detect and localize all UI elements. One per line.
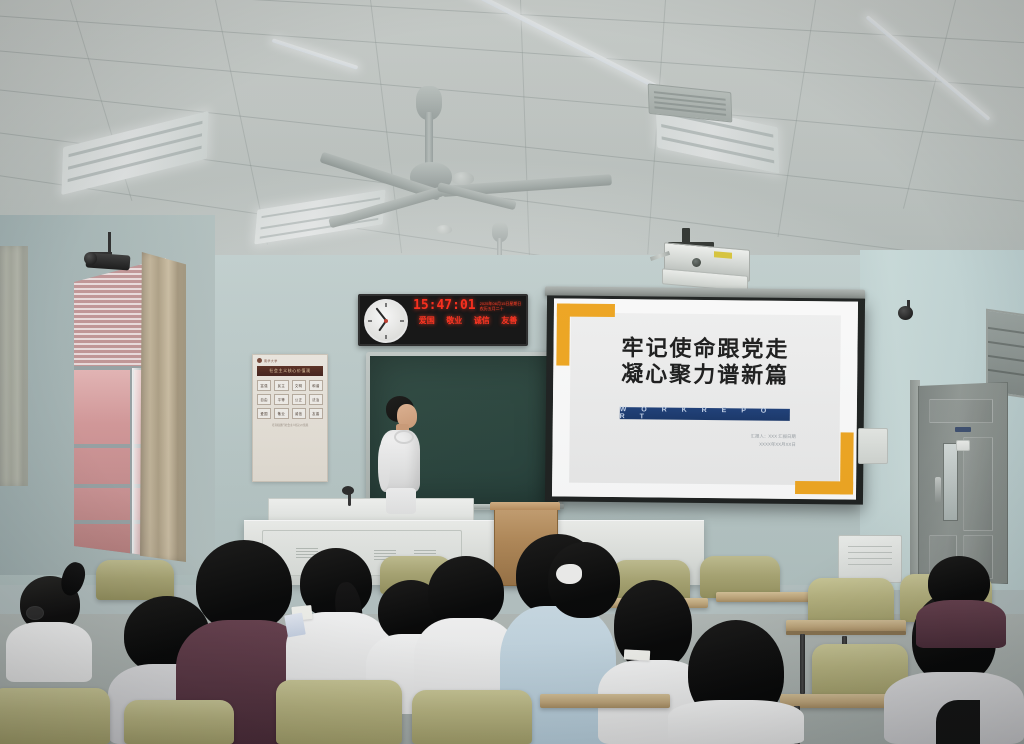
microphone <box>342 486 354 495</box>
slide-title-line-1: 牢记使命跟党走 <box>553 334 857 363</box>
slide-subtitle-line-2: XXXX年XX月XX日 <box>644 440 796 450</box>
slide-subtitle: 汇报人：XXX 汇报日期 XXXX年XX月XX日 <box>644 431 796 449</box>
hair-bow <box>556 564 582 584</box>
chair-back <box>0 688 110 744</box>
chair-back <box>124 700 234 744</box>
presenter-collar <box>394 430 414 444</box>
door-handle[interactable] <box>935 477 941 503</box>
poster-value: 和谐 <box>309 380 323 391</box>
security-camera <box>896 300 922 322</box>
presenter-trousers <box>386 488 416 514</box>
analog-clock <box>364 299 408 343</box>
led-word: 敬业 <box>446 315 462 326</box>
chair-back <box>276 680 402 744</box>
poster-value: 诚信 <box>292 408 306 419</box>
core-values-poster: 南华大学 社会主义核心价值观 富强 民主 文明 和谐 自由 平等 公正 法治 爱… <box>252 354 328 482</box>
classroom-photo: 南华大学 社会主义核心价值观 富强 民主 文明 和谐 自由 平等 公正 法治 爱… <box>0 0 1024 744</box>
slide-corner-accent-bottom-right <box>795 432 854 495</box>
chair-back <box>808 578 894 624</box>
wall-control-box[interactable] <box>858 428 888 464</box>
poster-value: 富强 <box>257 380 271 391</box>
podium-top <box>490 502 560 510</box>
student-body <box>6 622 92 682</box>
poster-value: 自由 <box>257 394 271 405</box>
led-clock-panel: 15:47:01 2025年06月15日星期日 农历五月二十 爱国 敬业 诚信 … <box>358 294 528 346</box>
led-date-line2: 农历五月二十 <box>480 306 504 311</box>
fluorescent-light <box>442 0 658 89</box>
projector-lens <box>692 258 701 267</box>
student-head <box>196 540 292 632</box>
presentation-slide: 牢记使命跟党走 凝心聚力谱新篇 W O R K R E P O R T 汇报人：… <box>552 298 858 499</box>
classroom-door[interactable] <box>918 382 1008 584</box>
wall-switch-plate[interactable] <box>956 440 970 451</box>
slide-ribbon-text: W O R K R E P O R T <box>620 406 790 422</box>
slide-title: 牢记使命跟党走 凝心聚力谱新篇 <box>553 334 858 389</box>
eyeglasses <box>26 606 44 620</box>
poster-value: 爱国 <box>257 408 271 419</box>
poster-value: 公正 <box>292 394 306 405</box>
presenter <box>372 396 428 514</box>
ceiling-projector <box>648 228 760 290</box>
curtain <box>0 246 28 486</box>
backpack-strap <box>936 700 980 744</box>
desk-leg <box>800 634 805 694</box>
led-time: 15:47:01 <box>413 298 476 313</box>
led-word: 友善 <box>501 315 517 326</box>
poster-footer: 培育和践行社会主义核心价值观 <box>257 423 323 427</box>
smoke-detector <box>436 225 452 234</box>
poster-value: 法治 <box>309 394 323 405</box>
poster-value: 平等 <box>274 394 288 405</box>
door-label-plate <box>955 427 971 432</box>
slide-title-line-2: 凝心聚力谱新篇 <box>553 360 857 389</box>
door-window <box>943 443 958 521</box>
presenter-arm <box>378 442 390 490</box>
tablet-device[interactable] <box>284 613 306 638</box>
slide-ribbon: W O R K R E P O R T <box>620 407 790 421</box>
curtain <box>140 252 186 562</box>
fluorescent-light <box>61 111 208 195</box>
chair-back <box>96 560 174 600</box>
led-date: 2025年06月15日星期日 农历五月二十 <box>480 301 522 311</box>
smoke-detector <box>452 172 474 185</box>
poster-value: 文明 <box>292 380 306 391</box>
poster-value: 友善 <box>309 408 323 419</box>
projection-screen: 牢记使命跟党走 凝心聚力谱新篇 W O R K R E P O R T 汇报人：… <box>552 298 858 499</box>
fluorescent-light <box>272 38 359 70</box>
student-body <box>916 600 1006 648</box>
student-body <box>668 700 804 744</box>
led-word: 诚信 <box>474 315 490 326</box>
poster-value: 敬业 <box>274 408 288 419</box>
poster-banner: 社会主义核心价值观 <box>257 366 323 376</box>
poster-value: 民主 <box>274 380 288 391</box>
ceiling-fan <box>330 86 630 226</box>
chair-back <box>412 690 532 744</box>
student-desk <box>540 694 670 708</box>
student-desk <box>716 592 816 602</box>
poster-org-label: 南华大学 <box>264 359 278 363</box>
poster-logo: 南华大学 <box>257 358 323 363</box>
poster-values-grid: 富强 民主 文明 和谐 自由 平等 公正 法治 爱国 敬业 诚信 友善 <box>257 380 323 419</box>
university-emblem-icon <box>257 358 262 363</box>
paper-sheet <box>624 649 650 660</box>
led-word: 爱国 <box>419 315 435 326</box>
security-camera <box>84 232 136 274</box>
wall-notice-board <box>838 535 902 583</box>
